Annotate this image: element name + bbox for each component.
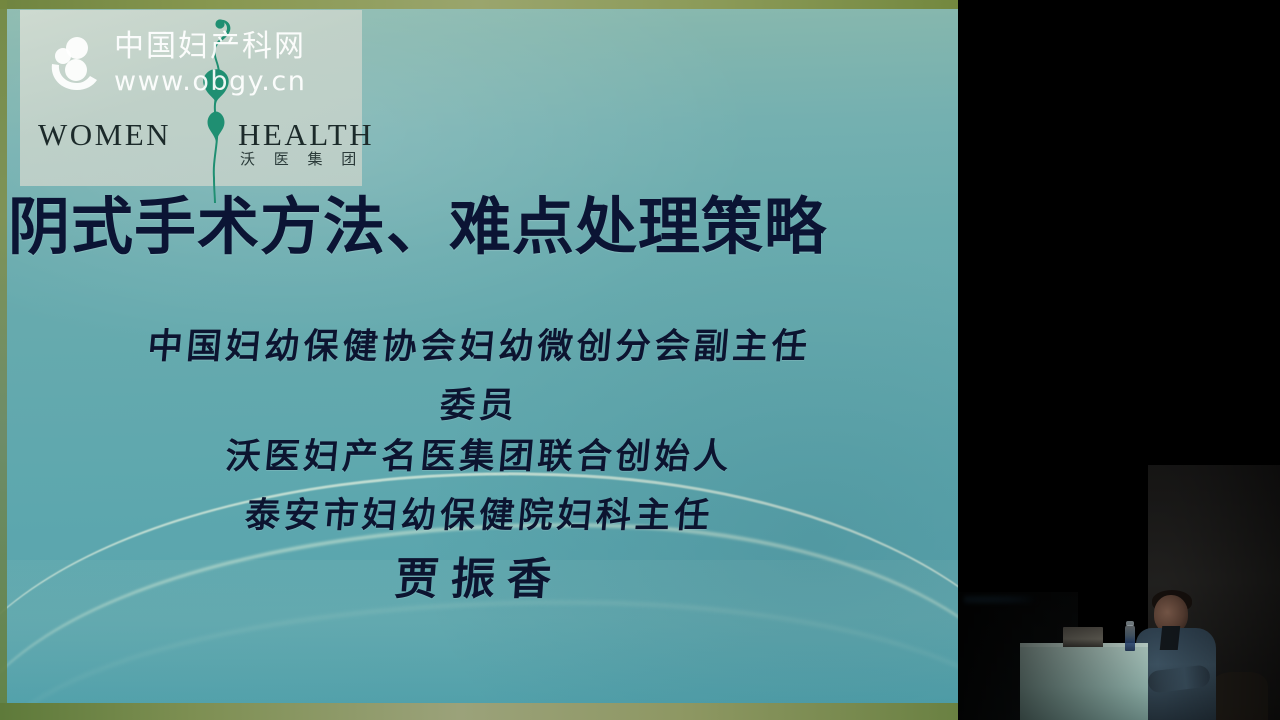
venue-chair: [1208, 672, 1268, 720]
speaker-collar: [1160, 626, 1181, 650]
watermark-url: www.obgy.cn: [114, 68, 306, 95]
slide-body-text: 中国妇幼保健协会妇幼微创分会副主任 委员 沃医妇产名医集团联合创始人 泰安市妇幼…: [0, 330, 958, 602]
lecture-hall-scene: [958, 0, 1280, 720]
credential-line: 委员: [0, 389, 958, 424]
screenshot-stage: 中国妇产科网 www.obgy.cn WOMEN HEALTH 沃 医 集 团 …: [0, 0, 1280, 720]
organization-logo-block: 中国妇产科网 www.obgy.cn WOMEN HEALTH 沃 医 集 团: [20, 10, 362, 186]
water-bottle-icon: [1125, 625, 1135, 651]
brand-word-women: WOMEN: [38, 118, 171, 152]
brand-wordmark: WOMEN HEALTH 沃 医 集 团: [30, 118, 360, 162]
mother-and-child-icon: [48, 36, 106, 92]
slide-title: 阴式手术方法、难点处理策略: [8, 194, 948, 259]
site-watermark: 中国妇产科网 www.obgy.cn: [48, 30, 348, 100]
venue-blue-light-streak: [964, 596, 1036, 603]
slide-bottom-border: [0, 703, 958, 720]
projected-slide: 中国妇产科网 www.obgy.cn WOMEN HEALTH 沃 医 集 团 …: [0, 0, 958, 720]
brand-subtitle-chinese: 沃 医 集 团: [240, 152, 363, 167]
presenter-name: 贾振香: [0, 558, 958, 602]
credential-line: 沃医妇产名医集团联合创始人: [0, 440, 958, 475]
slide-top-border: [0, 0, 958, 9]
brand-word-health: HEALTH: [238, 118, 374, 152]
podium: [1020, 645, 1148, 720]
watermark-site-name: 中国妇产科网: [114, 32, 306, 62]
credential-line: 泰安市妇幼保健院妇科主任: [0, 499, 958, 534]
credential-line: 中国妇幼保健协会妇幼微创分会副主任: [0, 330, 958, 365]
laptop-icon: [1063, 627, 1103, 647]
decorative-swoosh-curve: [0, 589, 958, 720]
